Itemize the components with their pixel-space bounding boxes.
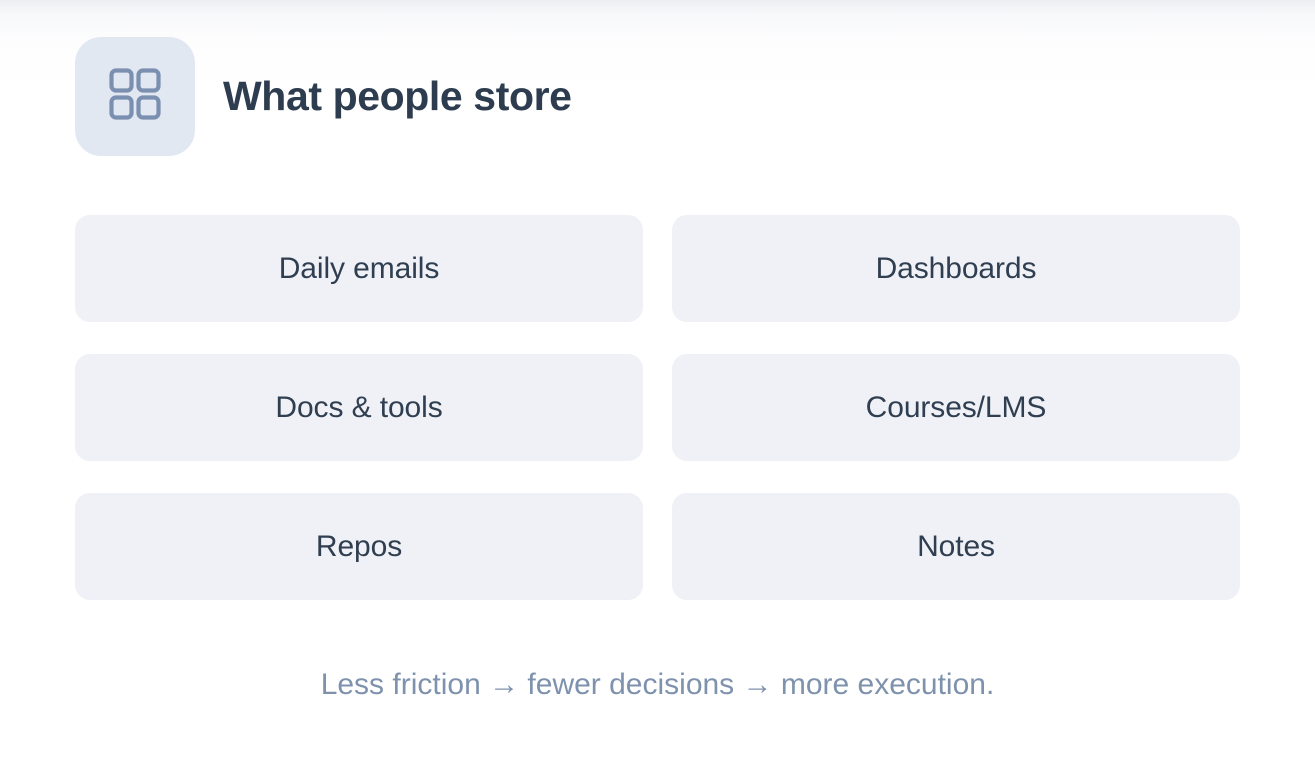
- store-card-label: Docs & tools: [275, 391, 442, 424]
- page-title: What people store: [223, 76, 572, 117]
- store-card-label: Daily emails: [279, 252, 440, 285]
- store-card-label: Notes: [917, 530, 995, 563]
- store-card-label: Dashboards: [876, 252, 1037, 285]
- store-card-repos[interactable]: Repos: [75, 493, 643, 600]
- store-card-daily-emails[interactable]: Daily emails: [75, 215, 643, 322]
- store-card-label: Repos: [316, 530, 402, 563]
- store-card-dashboards[interactable]: Dashboards: [672, 215, 1240, 322]
- header: What people store: [75, 37, 572, 156]
- store-card-grid: Daily emails Dashboards Docs & tools Cou…: [75, 215, 1240, 600]
- store-card-docs-tools[interactable]: Docs & tools: [75, 354, 643, 461]
- store-card-notes[interactable]: Notes: [672, 493, 1240, 600]
- slide-root: What people store Daily emails Dashboard…: [0, 0, 1315, 759]
- store-card-courses-lms[interactable]: Courses/LMS: [672, 354, 1240, 461]
- grid-2x2-icon: [106, 65, 164, 128]
- footer-note: Less friction → fewer decisions → more e…: [0, 668, 1315, 701]
- grid-2x2-icon-tile: [75, 37, 195, 156]
- store-card-label: Courses/LMS: [866, 391, 1047, 424]
